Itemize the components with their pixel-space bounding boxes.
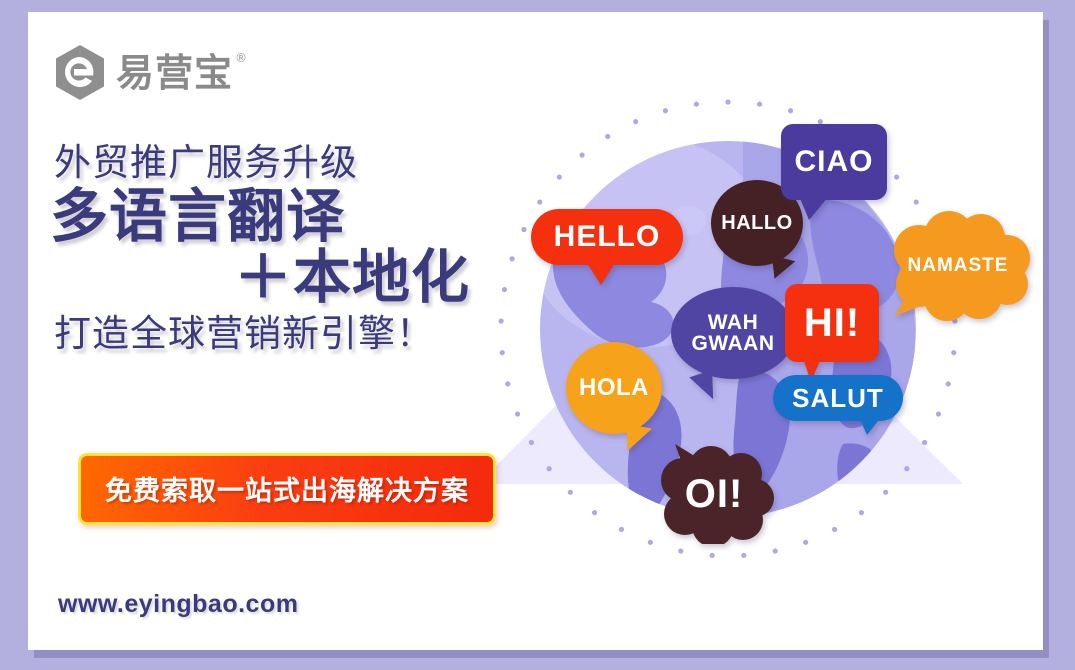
hexagon-e-logo-icon xyxy=(54,44,106,101)
website-url[interactable]: www.eyingbao.com xyxy=(58,590,298,619)
bubble-ciao: CIAO xyxy=(781,124,887,200)
brand-name-text: 易营宝 xyxy=(116,51,233,95)
bubble-wah-gwaan-text: WAH GWAAN xyxy=(671,312,795,355)
headline-main-1: 多语言翻译 xyxy=(50,185,480,250)
headline-subline: 打造全球营销新引擎！ xyxy=(50,313,480,354)
bubble-hello: HELLO xyxy=(531,209,683,265)
bubble-hi: HI! xyxy=(785,284,879,362)
headline-main-2: ＋本地化 xyxy=(50,246,480,311)
bubble-namaste-text: NAMASTE xyxy=(908,256,1009,275)
bubble-hi-text: HI! xyxy=(804,303,860,344)
banner-panel: HELLO HALLO CIAO xyxy=(28,12,1043,650)
bubble-oi-text: OI! xyxy=(685,474,744,515)
bubble-salut-text: SALUT xyxy=(792,385,884,412)
headline-eyebrow: 外贸推广服务升级 xyxy=(50,142,480,183)
headline-block: 外贸推广服务升级 多语言翻译 ＋本地化 打造全球营销新引擎！ xyxy=(50,142,480,355)
bubble-namaste: NAMASTE xyxy=(883,210,1033,322)
bubble-oi: OI! xyxy=(653,444,775,544)
bubble-hola: HOLA xyxy=(566,342,662,434)
bubble-hola-text: HOLA xyxy=(579,376,649,400)
registered-mark: ® xyxy=(235,52,248,64)
globe-illustration: HELLO HALLO CIAO xyxy=(443,92,1043,572)
bubble-ciao-text: CIAO xyxy=(795,147,874,178)
bubble-wah-gwaan: WAH GWAAN xyxy=(671,287,795,379)
brand-logo[interactable]: 易营宝® xyxy=(54,44,233,101)
cta-button[interactable]: 免费索取一站式出海解决方案 xyxy=(78,453,496,525)
bubble-hello-text: HELLO xyxy=(554,222,661,253)
brand-name: 易营宝® xyxy=(116,54,233,92)
bubble-salut: SALUT xyxy=(773,375,903,421)
bubble-hallo-text: HALLO xyxy=(721,213,792,233)
promo-banner: HELLO HALLO CIAO xyxy=(0,0,1075,670)
